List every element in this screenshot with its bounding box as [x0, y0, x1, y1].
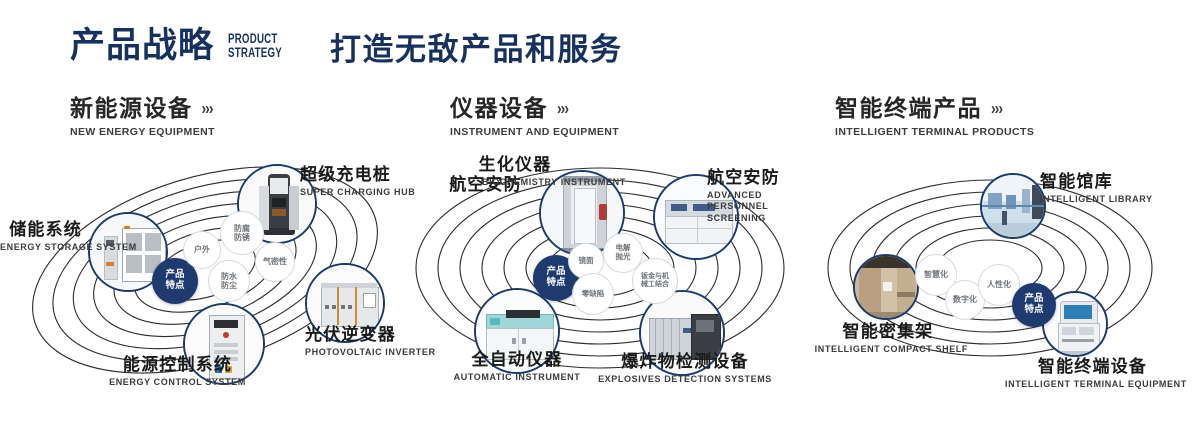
node-label-en: INTELLIGENT LIBRARY	[1040, 194, 1153, 206]
feature-bubble-text: 电解抛光	[615, 244, 632, 261]
section-title-instrument: 仪器设备 ››› INSTRUMENT AND EQUIPMENT	[450, 96, 619, 138]
node-label-intelligent-library: 智能馆库 INTELLIGENT LIBRARY	[1040, 172, 1153, 205]
section-title-en: INTELLIGENT TERMINAL PRODUCTS	[835, 126, 1034, 138]
node-label-cn: 智能馆库	[1040, 172, 1153, 192]
section-title-cn: 智能终端产品	[835, 96, 982, 121]
cluster-intelligent-terminal: 智能馆库 INTELLIGENT LIBRARY 智能密集架 INTELLIGE…	[790, 150, 1200, 410]
feature-bubble-waterproof-dustproof[interactable]: 防水防尘	[208, 260, 250, 302]
product-strategy-infographic: 产品战略 PRODUCT STRATEGY 打造无敌产品和服务 新能源设备 ››…	[0, 0, 1200, 422]
page-headline: 打造无敌产品和服务	[330, 34, 623, 65]
core-bubble-product-features[interactable]: 产品 特点	[1012, 283, 1056, 327]
node-label-intelligent-compact-shelf: 智能密集架 INTELLIGENT COMPACT SHELF	[808, 322, 968, 355]
core-bubble-line2: 特点	[1024, 305, 1043, 316]
chevron-right-icon: ›››	[202, 98, 213, 119]
feature-bubble-zero-defect[interactable]: 零缺陷	[572, 273, 614, 315]
node-label-cn: 生化仪器	[456, 155, 574, 175]
node-label-energy-control-system: 能源控制系统 ENERGY CONTROL SYSTEM	[85, 355, 270, 388]
node-label-en: ENERGY CONTROL SYSTEM	[85, 377, 270, 389]
node-label-cn: 全自动仪器	[443, 350, 591, 370]
page-title: 产品战略	[70, 28, 214, 63]
node-label-explosives-detection-systems: 爆炸物检测设备 EXPLOSIVES DETECTION SYSTEMS	[595, 352, 775, 385]
node-label-cn: 爆炸物检测设备	[595, 352, 775, 372]
section-title-new-energy: 新能源设备 ››› NEW ENERGY EQUIPMENT	[70, 96, 215, 138]
node-label-cn: 智能密集架	[808, 322, 968, 342]
page-title-english-line2: STRATEGY	[228, 46, 314, 60]
node-label-cn: 智能终端设备	[1005, 357, 1180, 377]
node-intelligent-library[interactable]	[980, 173, 1046, 239]
feature-bubble-text: 防腐防锈	[231, 224, 253, 242]
page-title-english-line1: PRODUCT	[228, 32, 314, 46]
node-label-energy-storage-system: 储能系统 ENERGY STORAGE SYSTEM	[0, 220, 82, 253]
node-label-cn: 超级充电桩	[300, 165, 415, 185]
page-header: 产品战略 PRODUCT STRATEGY	[70, 28, 348, 63]
section-title-en: INSTRUMENT AND EQUIPMENT	[450, 126, 619, 138]
feature-bubble-sheetmetal-machining[interactable]: 钣金与机械工结合	[632, 258, 678, 304]
cluster-new-energy: 储能系统 ENERGY STORAGE SYSTEM 超级充电桩 SUPER C…	[0, 150, 410, 410]
feature-bubble-text: 防水防尘	[219, 272, 240, 290]
node-label-en: EXPLOSIVES DETECTION SYSTEMS	[595, 374, 775, 386]
cluster-instrument: 航空安防 生化仪器 BIOCHEMISTRY INSTRUMENT 航空安防 A…	[400, 150, 810, 410]
section-title-cn: 仪器设备	[450, 96, 548, 121]
feature-bubble-airtightness[interactable]: 气密性	[255, 242, 295, 282]
node-label-en: SUPER CHARGING HUB	[300, 187, 415, 199]
node-label-biochemistry-instrument: 生化仪器 BIOCHEMISTRY INSTRUMENT	[456, 155, 574, 188]
node-label-automatic-instrument: 全自动仪器 AUTOMATIC INSTRUMENT	[443, 350, 591, 383]
node-label-super-charging-hub: 超级充电桩 SUPER CHARGING HUB	[300, 165, 415, 198]
feature-bubble-anti-corrosion[interactable]: 防腐防锈	[220, 211, 264, 255]
node-intelligent-compact-shelf[interactable]	[853, 254, 919, 320]
page-title-english: PRODUCT STRATEGY	[228, 32, 314, 63]
node-label-en: ENERGY STORAGE SYSTEM	[0, 242, 82, 254]
chevron-right-icon: ›››	[557, 98, 568, 119]
core-bubble-line2: 特点	[165, 281, 184, 292]
node-label-en: AUTOMATIC INSTRUMENT	[443, 372, 591, 384]
chevron-right-icon: ›››	[991, 98, 1002, 119]
core-bubble-line2: 特点	[546, 278, 565, 289]
section-title-intelligent-terminal: 智能终端产品 ››› INTELLIGENT TERMINAL PRODUCTS	[835, 96, 1034, 138]
node-label-intelligent-terminal-equipment: 智能终端设备 INTELLIGENT TERMINAL EQUIPMENT	[1005, 357, 1180, 390]
feature-bubble-text: 钣金与机械工结合	[640, 273, 671, 289]
library-interior-photo	[982, 175, 1044, 237]
node-label-en: INTELLIGENT TERMINAL EQUIPMENT	[1005, 379, 1180, 391]
compact-shelf-photo	[855, 256, 917, 318]
node-label-en: BIOCHEMISTRY INSTRUMENT	[456, 177, 574, 189]
section-title-cn: 新能源设备	[70, 96, 193, 121]
node-label-cn: 储能系统	[0, 220, 82, 240]
node-label-en: INTELLIGENT COMPACT SHELF	[808, 344, 968, 356]
section-title-en: NEW ENERGY EQUIPMENT	[70, 126, 215, 138]
node-label-cn: 能源控制系统	[85, 355, 270, 375]
